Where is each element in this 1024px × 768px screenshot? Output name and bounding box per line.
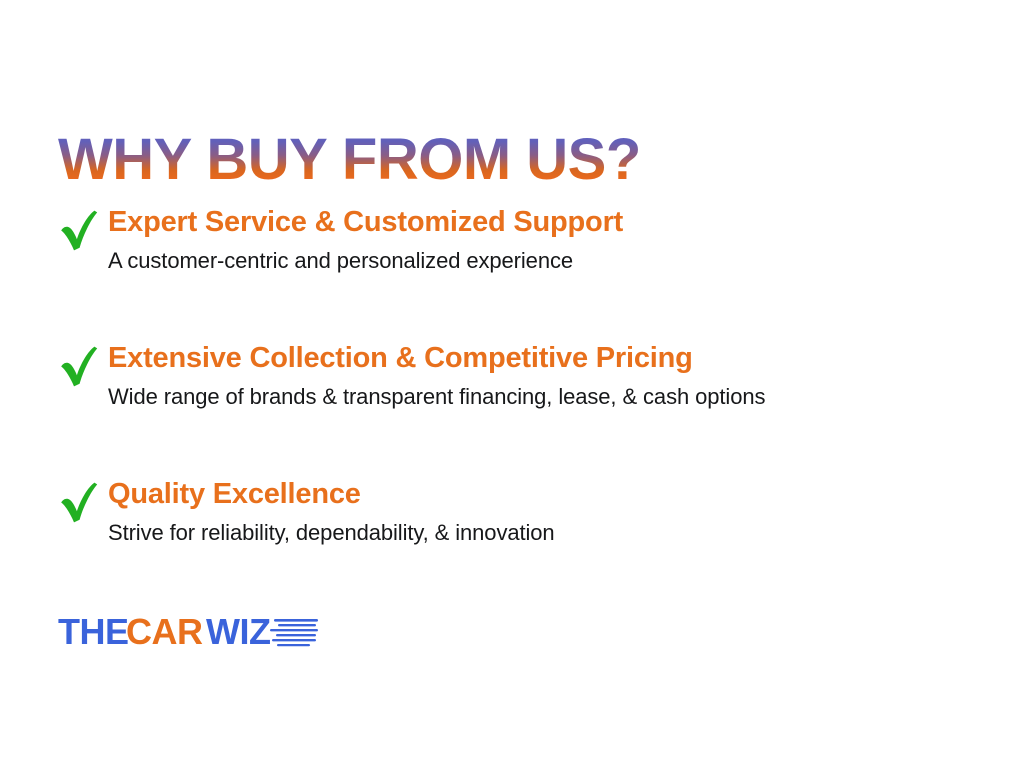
list-item-description: Strive for reliability, dependability, &… [108,519,1024,547]
benefits-list: Expert Service & Customized Support A cu… [0,206,1024,547]
list-item-heading: Extensive Collection & Competitive Prici… [108,342,1024,374]
list-item-heading: Expert Service & Customized Support [108,206,1024,238]
list-item-description: Wide range of brands & transparent finan… [108,383,1024,411]
list-item-content: Extensive Collection & Competitive Prici… [108,342,1024,411]
logo-text-car: CAR [126,612,203,652]
check-icon [58,482,98,524]
list-item-heading: Quality Excellence [108,478,1024,510]
logo-text-wiz: WIZ [206,612,270,652]
check-icon [58,346,98,388]
list-item-description: A customer-centric and personalized expe… [108,247,1024,275]
logo-text-the: THE [58,612,129,652]
list-item-content: Expert Service & Customized Support A cu… [108,206,1024,275]
page-title: WHY BUY FROM US? [58,131,641,189]
list-item: Expert Service & Customized Support A cu… [0,206,1024,275]
list-item-content: Quality Excellence Strive for reliabilit… [108,478,1024,547]
list-item: Quality Excellence Strive for reliabilit… [0,478,1024,547]
check-icon [58,210,98,252]
speed-streak-icon [270,619,318,646]
slide-canvas: WHY BUY FROM US? Expert Service & Custom… [0,0,1024,768]
thecarwiz-logo: THE CAR WIZ [58,612,358,654]
list-item: Extensive Collection & Competitive Prici… [0,342,1024,411]
